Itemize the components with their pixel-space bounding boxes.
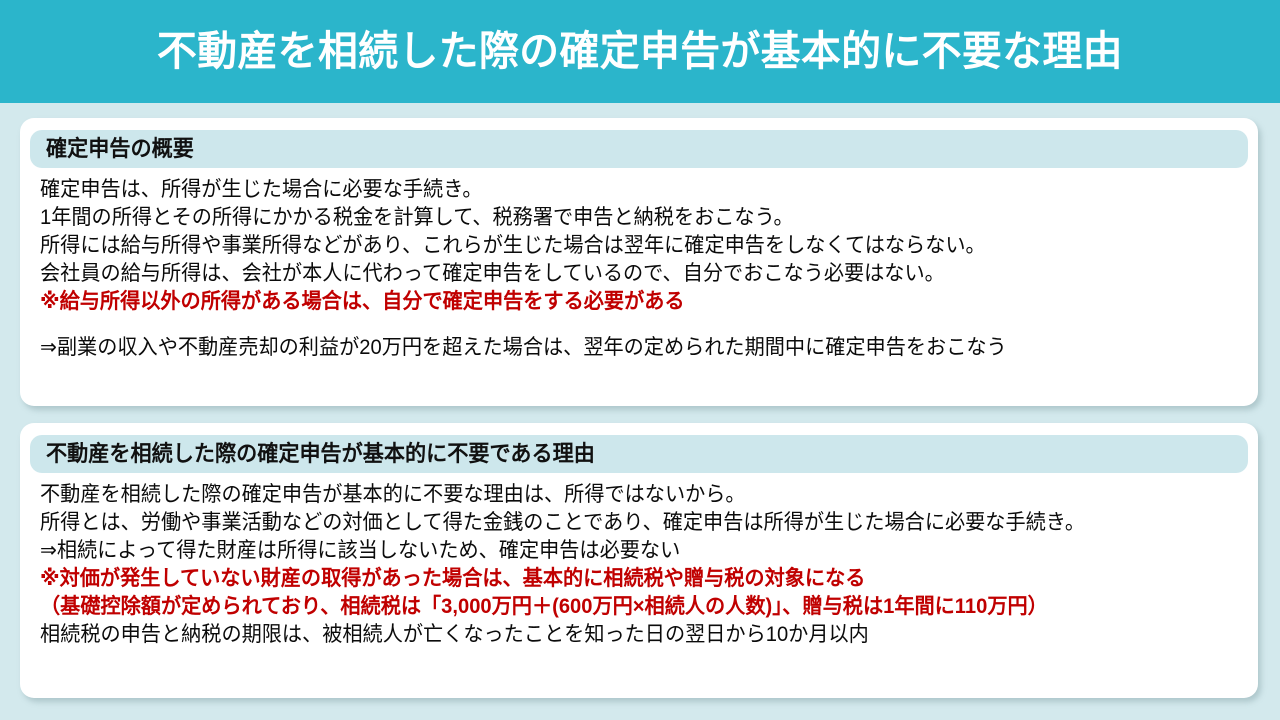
section-body-1: 確定申告は、所得が生じた場合に必要な手続き。 1年間の所得とその所得にかかる税金… [30,174,1248,362]
body-line: 所得には給与所得や事業所得などがあり、これらが生じた場合は翌年に確定申告をしなく… [40,232,1200,260]
section-card-reason: 不動産を相続した際の確定申告が基本的に不要である理由 不動産を相続した際の確定申… [20,423,1258,698]
page-title: 不動産を相続した際の確定申告が基本的に不要な理由 [157,31,1123,72]
section-heading-text-1: 確定申告の概要 [46,138,194,160]
body-line: 所得とは、労働や事業活動などの対価として得た金銭のことであり、確定申告は所得が生… [40,509,1200,537]
title-banner: 不動産を相続した際の確定申告が基本的に不要な理由 [0,0,1280,103]
body-line: 不動産を相続した際の確定申告が基本的に不要な理由は、所得ではないから。 [40,481,1200,509]
section-body-2: 不動産を相続した際の確定申告が基本的に不要な理由は、所得ではないから。 所得とは… [30,479,1248,649]
section-heading-band-1: 確定申告の概要 [30,130,1248,168]
body-line-highlight: ※給与所得以外の所得がある場合は、自分で確定申告をする必要がある [40,288,1200,316]
body-line: 1年間の所得とその所得にかかる税金を計算して、税務署で申告と納税をおこなう。 [40,204,1200,232]
section-heading-text-2: 不動産を相続した際の確定申告が基本的に不要である理由 [46,443,595,465]
body-line-conclusion: ⇒相続によって得た財産は所得に該当しないため、確定申告は必要ない [40,537,1200,565]
body-line: 確定申告は、所得が生じた場合に必要な手続き。 [40,176,1200,204]
body-line: 会社員の給与所得は、会社が本人に代わって確定申告をしているので、自分でおこなう必… [40,260,1200,288]
body-line-conclusion: ⇒副業の収入や不動産売却の利益が20万円を超えた場合は、翌年の定められた期間中に… [40,334,1200,362]
body-line-deadline: 相続税の申告と納税の期限は、被相続人が亡くなったことを知った日の翌日から10か月… [40,621,1200,649]
body-line-highlight-detail: （基礎控除額が定められており、相続税は「3,000万円＋(600万円×相続人の人… [40,593,1200,621]
body-line-highlight: ※対価が発生していない財産の取得があった場合は、基本的に相続税や贈与税の対象にな… [40,565,1200,593]
section-heading-band-2: 不動産を相続した際の確定申告が基本的に不要である理由 [30,435,1248,473]
section-card-overview: 確定申告の概要 確定申告は、所得が生じた場合に必要な手続き。 1年間の所得とその… [20,118,1258,406]
slide-page: 不動産を相続した際の確定申告が基本的に不要な理由 確定申告の概要 確定申告は、所… [0,0,1280,720]
